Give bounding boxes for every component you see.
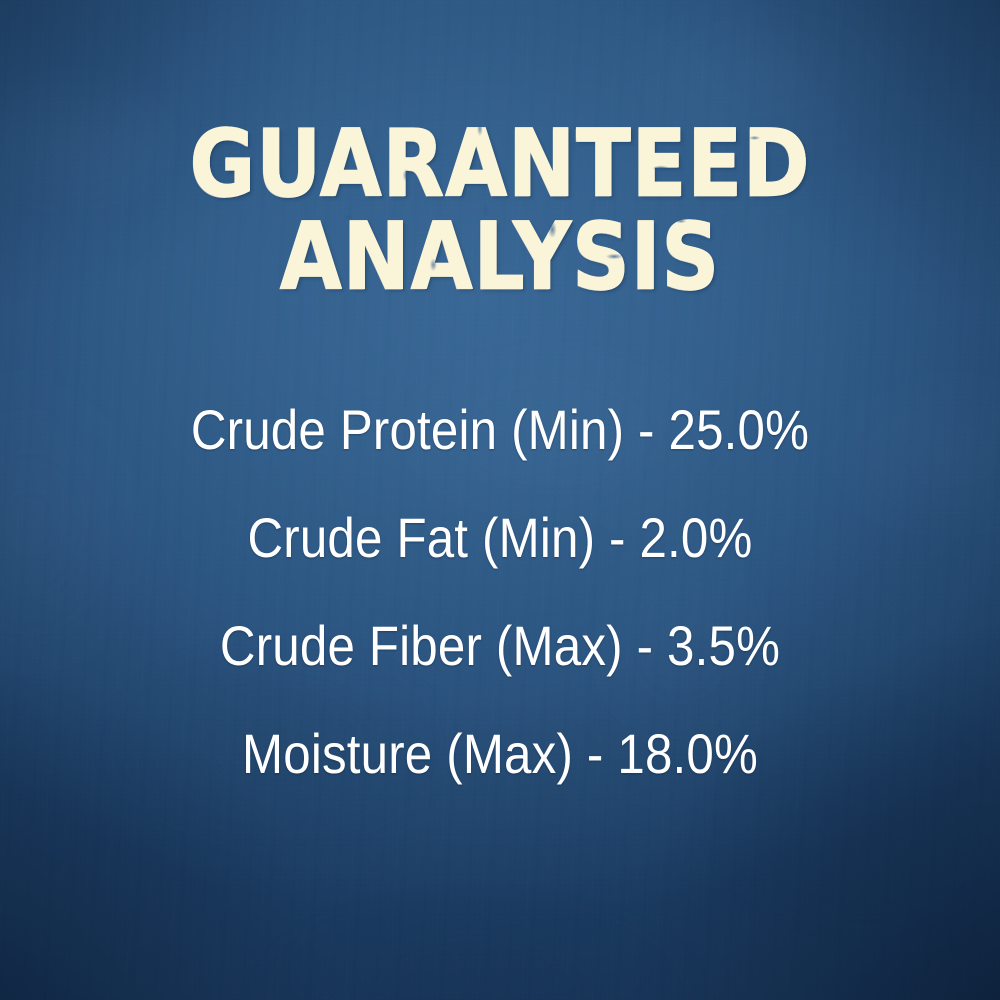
title-line-2: ANALYSIS [280, 211, 720, 303]
title-line-2-wrap: ANALYSIS [280, 197, 720, 290]
title-line-1: GUARANTEED [190, 118, 811, 210]
analysis-row-crude-protein: Crude Protein (Min) - 25.0% [60, 402, 940, 458]
analysis-row-crude-fat: Crude Fat (Min) - 2.0% [60, 510, 940, 566]
content-area: GUARANTEED ANALYSIS Crude Protein (Min) … [0, 0, 1000, 1000]
guaranteed-analysis-panel: GUARANTEED ANALYSIS Crude Protein (Min) … [0, 0, 1000, 1000]
title-line-1-wrap: GUARANTEED [190, 118, 811, 197]
analysis-list: Crude Protein (Min) - 25.0% Crude Fat (M… [0, 402, 1000, 782]
page-title: GUARANTEED ANALYSIS [0, 118, 1000, 290]
analysis-row-moisture: Moisture (Max) - 18.0% [60, 726, 940, 782]
analysis-row-crude-fiber: Crude Fiber (Max) - 3.5% [60, 618, 940, 674]
